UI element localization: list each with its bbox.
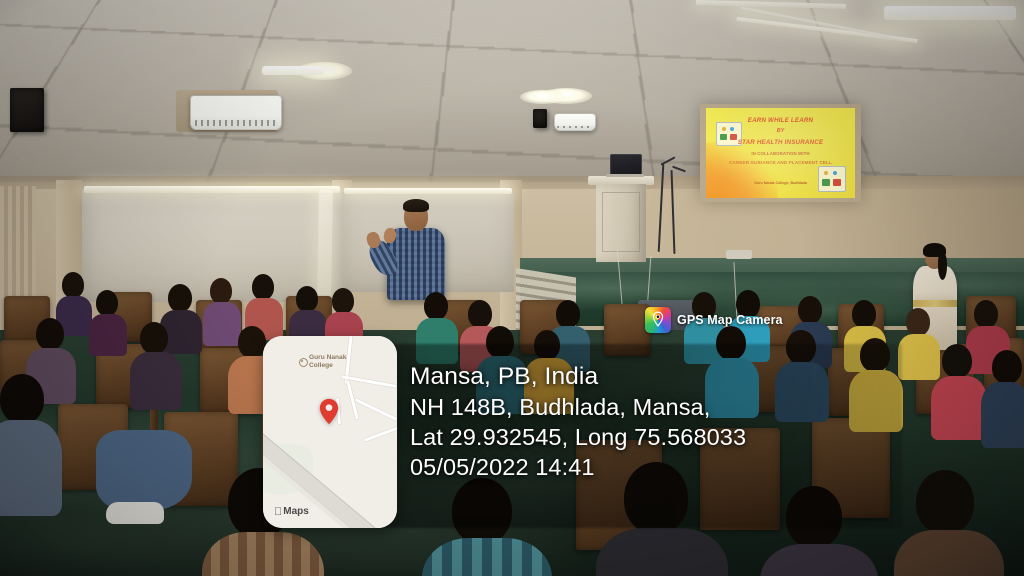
- photo-screenshot: EARN WHILE LEARN BY STAR HEALTH INSURANC…: [0, 0, 1024, 576]
- gps-map-camera-logo-icon: [645, 307, 671, 333]
- board-light-strip: [84, 186, 340, 193]
- map-location-pin-icon: [319, 398, 339, 425]
- slide-line-4: IN COLLABORATION WITH: [706, 151, 855, 156]
- gps-stamp-text: Mansa, PB, India NH 148B, Budhlada, Mans…: [410, 362, 890, 482]
- ceiling: [0, 0, 1024, 196]
- slide-line-2: BY: [706, 128, 855, 134]
- presenter-hair: [403, 199, 429, 212]
- map-poi-label: Guru Nanak College: [309, 354, 379, 369]
- apple-logo-icon: : [274, 507, 282, 517]
- wall-speaker: [533, 109, 547, 128]
- stamp-place-line: Mansa, PB, India: [410, 362, 890, 392]
- staff-dupatta: [913, 300, 957, 307]
- laptop: [610, 154, 642, 176]
- map-pin-icon: [653, 311, 664, 326]
- apple-maps-attribution:  Maps: [274, 506, 309, 517]
- maps-wordmark: Maps: [283, 506, 309, 517]
- map-poi-label-line2: College: [309, 362, 379, 370]
- stamp-coordinates-line: Lat 29.932545, Long 75.568033: [410, 422, 890, 452]
- presentation-slide: EARN WHILE LEARN BY STAR HEALTH INSURANC…: [706, 108, 855, 198]
- gps-map-camera-label: GPS Map Camera: [677, 313, 783, 327]
- split-ac-unit: [190, 95, 282, 130]
- cable-junction-box: [726, 250, 752, 259]
- podium: [596, 184, 646, 262]
- ac-vent: [557, 126, 594, 129]
- podium-front-panel: [602, 192, 640, 252]
- ac-vent: [195, 120, 278, 125]
- ceiling-panel-light: [884, 6, 1016, 20]
- shoe: [106, 502, 164, 524]
- gps-map-camera-watermark: GPS Map Camera: [645, 307, 783, 333]
- split-ac-unit: [554, 113, 596, 131]
- board-light-strip: [344, 188, 512, 194]
- college-logo-icon: [818, 166, 846, 192]
- wall-speaker: [10, 88, 44, 132]
- board-edge-glow: [317, 190, 333, 302]
- ceiling-panel-light: [262, 66, 324, 75]
- stamp-datetime-line: 05/05/2022 14:41: [410, 452, 890, 482]
- laptop-base: [606, 174, 644, 177]
- map-poi-icon: [299, 358, 308, 367]
- slide-line-5: CAREER GUIDANCE AND PLACEMENT CELL: [706, 160, 855, 165]
- slide-line-3: STAR HEALTH INSURANCE: [706, 139, 855, 146]
- ceiling-downlight-icon: [520, 90, 566, 104]
- gps-location-stamp: Guru Nanak College  Maps Mansa, PB, Ind…: [263, 336, 902, 536]
- stamp-address-line: NH 148B, Budhlada, Mansa,: [410, 392, 890, 422]
- ceiling-shading: [0, 0, 1024, 196]
- slide-footer: Guru Nanak College, Budhlada: [706, 181, 855, 185]
- map-poi-label-line1: Guru Nanak: [309, 354, 379, 362]
- staff-hair: [923, 243, 946, 257]
- map-thumbnail-card: Guru Nanak College  Maps: [263, 336, 397, 528]
- slide-line-1: EARN WHILE LEARN: [706, 117, 855, 124]
